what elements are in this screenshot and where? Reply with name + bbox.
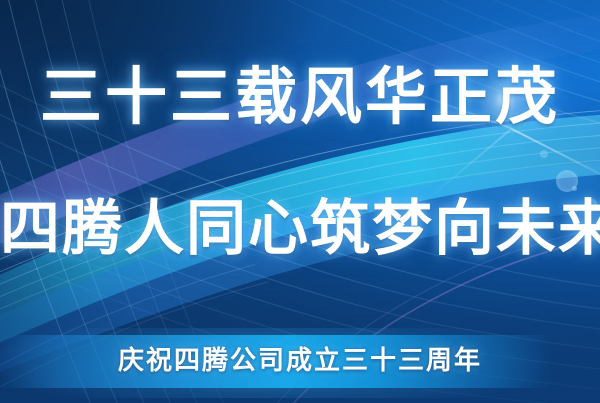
lens-flare-dot bbox=[540, 150, 548, 158]
subtitle: 庆祝四腾公司成立三十三周年 bbox=[0, 340, 600, 382]
headline-line-2-text: 四腾人同心筑梦向未来 bbox=[0, 194, 600, 264]
poster-canvas: 三十三载风华正茂 四腾人同心筑梦向未来 庆祝四腾公司成立三十三周年 bbox=[0, 0, 600, 403]
headline-line-1-text: 三十三载风华正茂 bbox=[40, 62, 560, 132]
subtitle-text: 庆祝四腾公司成立三十三周年 bbox=[118, 340, 482, 382]
headline-line-1: 三十三载风华正茂 bbox=[0, 62, 600, 132]
headline-line-2: 四腾人同心筑梦向未来 bbox=[0, 194, 600, 264]
lens-flare-dot bbox=[572, 186, 577, 191]
